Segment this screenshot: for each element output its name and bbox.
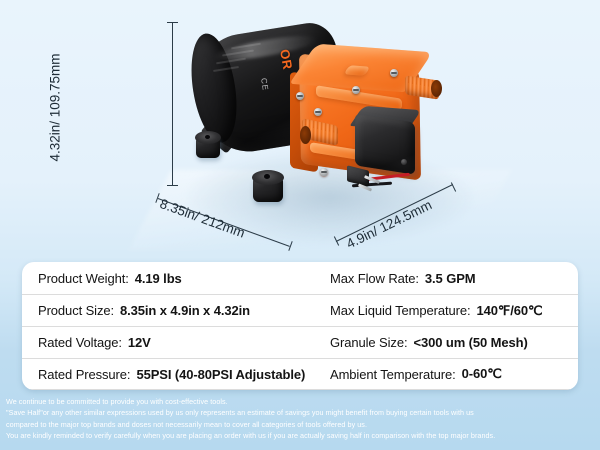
head-screw	[352, 86, 360, 94]
height-dimension-cap-bottom	[167, 185, 178, 186]
spec-cell-product-size: Product Size: 8.35in x 4.9in x 4.32in	[22, 294, 314, 326]
height-dimension-line	[172, 22, 173, 186]
spec-label: Rated Pressure:	[38, 367, 130, 382]
spec-value: 12V	[128, 335, 151, 350]
head-screw	[314, 108, 322, 116]
disclaimer-line-1: We continue to be committed to provide y…	[6, 396, 596, 407]
pressure-switch-cover	[355, 113, 415, 175]
inlet-port-opening	[300, 126, 311, 144]
spec-label: Max Flow Rate:	[330, 271, 419, 286]
outlet-port-opening	[431, 80, 442, 97]
spec-value: 3.5 GPM	[425, 271, 476, 286]
spec-label: Product Size:	[38, 303, 114, 318]
spec-cell-max-liquid-temperature: Max Liquid Temperature: 140℉/60℃	[314, 294, 578, 326]
mounting-foot-front-hole	[264, 174, 270, 179]
head-screw	[320, 168, 328, 176]
spec-value: 140℉/60℃	[477, 303, 543, 319]
ce-mark-label: CE	[259, 77, 270, 91]
spec-label: Max Liquid Temperature:	[330, 303, 471, 318]
head-screw	[390, 69, 398, 77]
motor-clamp-screw	[296, 92, 304, 100]
spec-cell-granule-size: Granule Size: <300 um (50 Mesh)	[314, 326, 578, 358]
mounting-foot-rear-hole	[205, 135, 210, 139]
water-pump-product-image: OR CE	[0, 0, 600, 258]
spec-label: Product Weight:	[38, 271, 129, 286]
height-dimension-cap-top	[167, 22, 178, 23]
spec-row: Rated Voltage: 12V Granule Size: <300 um…	[22, 326, 578, 358]
spec-value: 0-60℃	[462, 366, 502, 382]
height-dimension-label: 4.32in/ 109.75mm	[48, 33, 63, 183]
spec-cell-ambient-temperature: Ambient Temperature: 0-60℃	[314, 358, 578, 390]
spec-cell-rated-pressure: Rated Pressure: 55PSI (40-80PSI Adjustab…	[22, 358, 314, 390]
disclaimer-line-2: "Save Half"or any other similar expressi…	[6, 407, 596, 418]
pressure-switch-adjust-screw[interactable]	[401, 159, 407, 165]
specifications-card: Product Weight: 4.19 lbs Max Flow Rate: …	[22, 262, 578, 390]
disclaimer-line-3: compared to the major top brands and dos…	[6, 419, 596, 430]
spec-row: Rated Pressure: 55PSI (40-80PSI Adjustab…	[22, 358, 578, 390]
disclaimer-block: We continue to be committed to provide y…	[6, 396, 596, 441]
spec-cell-product-weight: Product Weight: 4.19 lbs	[22, 262, 314, 294]
spec-row: Product Size: 8.35in x 4.9in x 4.32in Ma…	[22, 294, 578, 326]
spec-row: Product Weight: 4.19 lbs Max Flow Rate: …	[22, 262, 578, 294]
spec-label: Ambient Temperature:	[330, 367, 456, 382]
product-spec-page: OR CE	[0, 0, 600, 450]
spec-value: 4.19 lbs	[135, 271, 182, 286]
spec-cell-rated-voltage: Rated Voltage: 12V	[22, 326, 314, 358]
disclaimer-line-4: You are kindly reminded to verify carefu…	[6, 430, 596, 441]
spec-label: Rated Voltage:	[38, 335, 122, 350]
product-photo-area: OR CE	[0, 0, 600, 258]
spec-value: 8.35in x 4.9in x 4.32in	[120, 303, 250, 318]
spec-value: 55PSI (40-80PSI Adjustable)	[136, 367, 305, 382]
spec-label: Granule Size:	[330, 335, 407, 350]
spec-value: <300 um (50 Mesh)	[413, 335, 527, 350]
spec-cell-max-flow-rate: Max Flow Rate: 3.5 GPM	[314, 262, 578, 294]
